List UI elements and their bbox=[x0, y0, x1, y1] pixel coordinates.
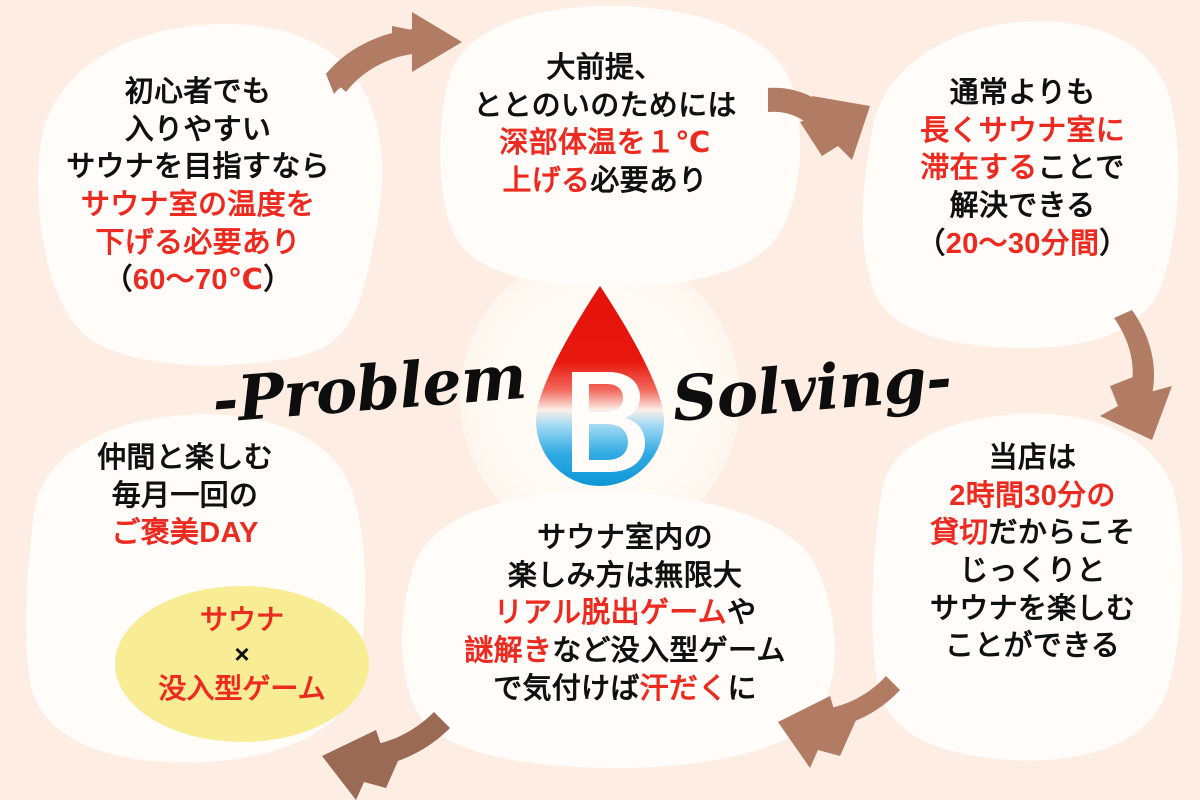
text-line: じっくりと bbox=[900, 553, 1165, 591]
text-line: サウナ室内の bbox=[430, 520, 820, 558]
text-line: サウナを目指すなら bbox=[48, 149, 348, 187]
text-line: ご褒美DAY bbox=[45, 515, 325, 553]
text-line: サウナを楽しむ bbox=[900, 591, 1165, 629]
text-line: リアル脱出ゲームや bbox=[430, 595, 820, 633]
arrow-bottom-center-to-bottom-left bbox=[322, 712, 450, 800]
text-line: ことができる bbox=[900, 628, 1165, 666]
text-line: 初心者でも bbox=[48, 74, 348, 112]
text-line: （60〜70℃） bbox=[48, 262, 348, 300]
text-line: 当店は bbox=[900, 440, 1165, 478]
infographic-canvas: -Problem Solving- 初心者でも 入りやすい サウナを目指すなら … bbox=[0, 0, 1200, 800]
bubble-top-right-text: 通常よりも 長くサウナ室に 滞在することで 解決できる （20〜30分間） bbox=[890, 75, 1155, 263]
badge-line-2: × bbox=[122, 638, 362, 671]
bubble-top-center-text: 大前提、 ととのいのためには 深部体温を１℃ 上げる必要あり bbox=[450, 50, 760, 201]
text-line: 上げる必要あり bbox=[450, 163, 760, 201]
text-line: 2時間30分の bbox=[900, 478, 1165, 516]
text-line: 長くサウナ室に bbox=[890, 113, 1155, 151]
text-line: 大前提、 bbox=[450, 50, 760, 88]
text-line: 深部体温を１℃ bbox=[450, 125, 760, 163]
text-line: 仲間と楽しむ bbox=[45, 440, 325, 478]
bubble-bottom-right-text: 当店は 2時間30分の 貸切だからこそ じっくりと サウナを楽しむ ことができる bbox=[900, 440, 1165, 666]
badge-line-3: 没入型ゲーム bbox=[122, 671, 362, 707]
badge-line-1: サウナ bbox=[122, 602, 362, 638]
bubble-bottom-left-text: 仲間と楽しむ 毎月一回の ご褒美DAY bbox=[45, 440, 325, 553]
text-line: で気付けば汗だくに bbox=[430, 671, 820, 709]
text-line: サウナ室の温度を bbox=[48, 187, 348, 225]
text-line: 楽しみ方は無限大 bbox=[430, 558, 820, 596]
text-line: 解決できる bbox=[890, 188, 1155, 226]
text-line: 謎解きなど没入型ゲーム bbox=[430, 633, 820, 671]
text-line: 入りやすい bbox=[48, 112, 348, 150]
text-line: 滞在することで bbox=[890, 150, 1155, 188]
bubble-top-left-text: 初心者でも 入りやすい サウナを目指すなら サウナ室の温度を 下げる必要あり （… bbox=[48, 74, 348, 300]
bubble-bottom-center-text: サウナ室内の 楽しみ方は無限大 リアル脱出ゲームや 謎解きなど没入型ゲーム で気… bbox=[430, 520, 820, 708]
text-line: 毎月一回の bbox=[45, 478, 325, 516]
text-line: ととのいのためには bbox=[450, 88, 760, 126]
text-line: 通常よりも bbox=[890, 75, 1155, 113]
text-line: （20〜30分間） bbox=[890, 226, 1155, 264]
text-line: 下げる必要あり bbox=[48, 225, 348, 263]
text-line: 貸切だからこそ bbox=[900, 515, 1165, 553]
badge-sauna-x-game: サウナ × 没入型ゲーム bbox=[122, 602, 362, 707]
